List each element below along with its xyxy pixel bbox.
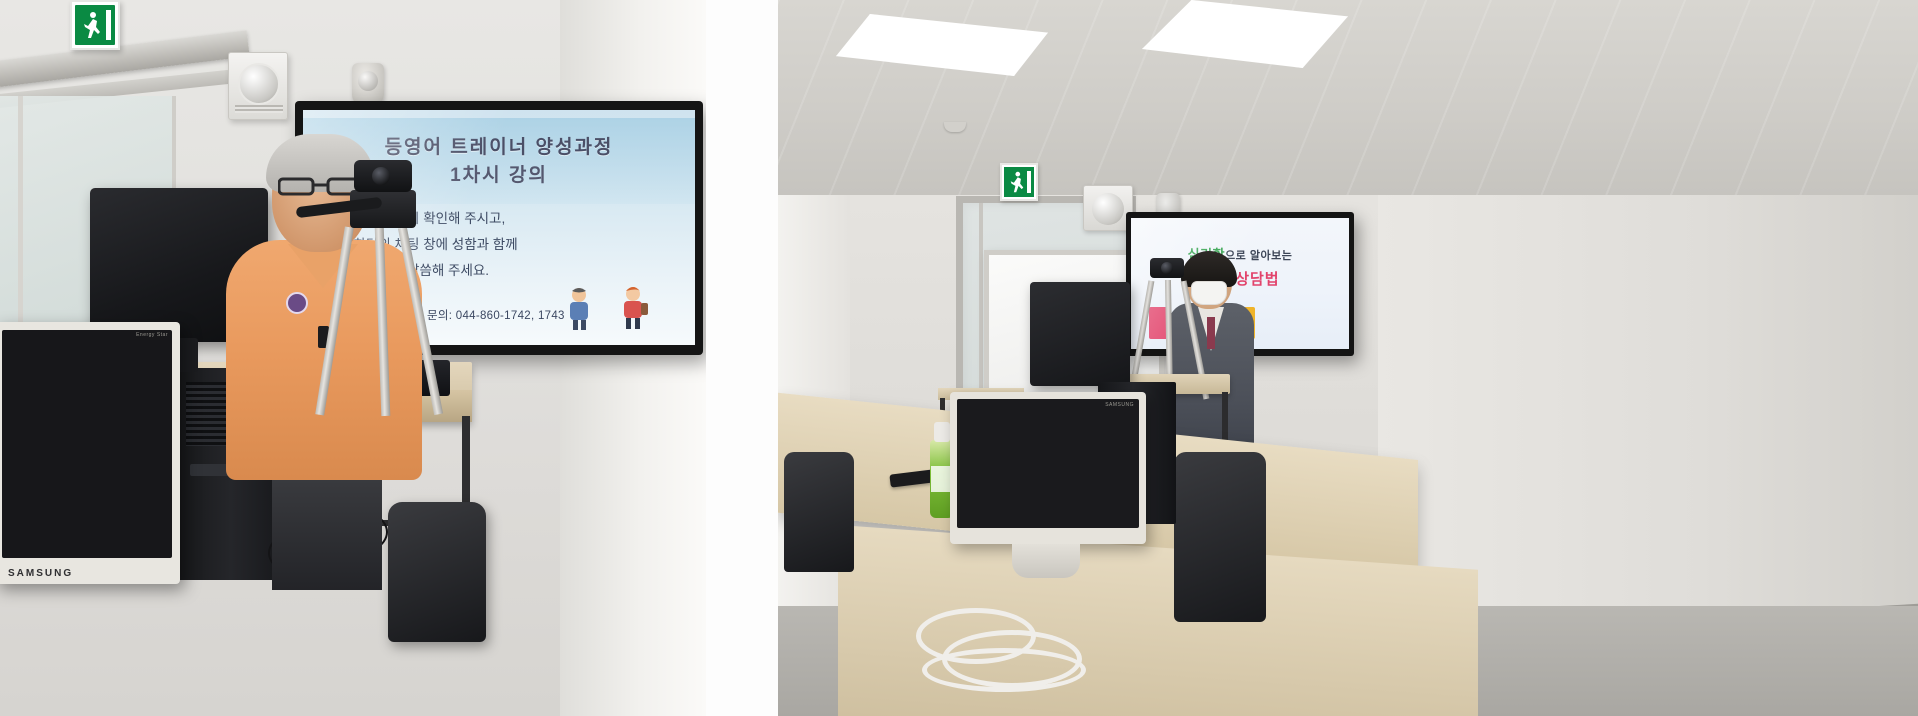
tripod-leg-right [398,227,443,415]
wall-thermostat-unit [228,52,288,120]
monitor-stand-right [1012,544,1080,578]
exit-sign-icon-right [1000,163,1038,201]
monitor-foreground: Energy Star SAMSUNG [0,322,180,584]
webcam-icon [354,160,412,192]
vent-grille [235,105,283,113]
office-chair-right-b [1174,452,1266,622]
monitor-brand-label: SAMSUNG [8,568,73,579]
cable-coil-3 [922,648,1086,692]
monitor-brand-label-right: SAMSUNG [1105,402,1134,408]
cartoon-person-icon-a [561,287,597,331]
dial-icon-right [1092,193,1124,225]
panel-divider [706,0,778,716]
tripod-leg-left [315,226,354,415]
photo-composite: 7년 평 프로 등영어 트레이너 양성과정 1차시 강의 면이 잘 보이는지 확… [0,0,1918,716]
cartoon-person-icon-b [613,285,653,331]
wall-sensor-icon [352,63,384,105]
exit-sign-icon [70,0,120,50]
monitor-foreground-right: SAMSUNG [950,392,1146,544]
name-badge [286,292,308,314]
monitor-screen [2,330,172,558]
presenter-legs [272,470,382,590]
tripod-leg-center [375,226,391,416]
right-photo-panel: 심리학으로 알아보는 학습 상담법 [778,0,1918,716]
dial-icon [238,63,280,105]
monitor-eco-label: Energy Star [136,332,168,338]
monitor-screen-right [957,399,1139,528]
office-chair-right-a [784,452,854,572]
running-man-icon [81,11,103,39]
cable-coil-group [916,600,1096,692]
running-man-icon-right [1008,171,1026,193]
monitor-rear-right [1030,282,1130,386]
left-photo-panel: 7년 평 프로 등영어 트레이너 양성과정 1차시 강의 면이 잘 보이는지 확… [0,0,706,716]
pump-head-icon [934,422,950,442]
webcam-icon-right [1150,258,1184,278]
tripod-camera-rig [320,160,450,410]
